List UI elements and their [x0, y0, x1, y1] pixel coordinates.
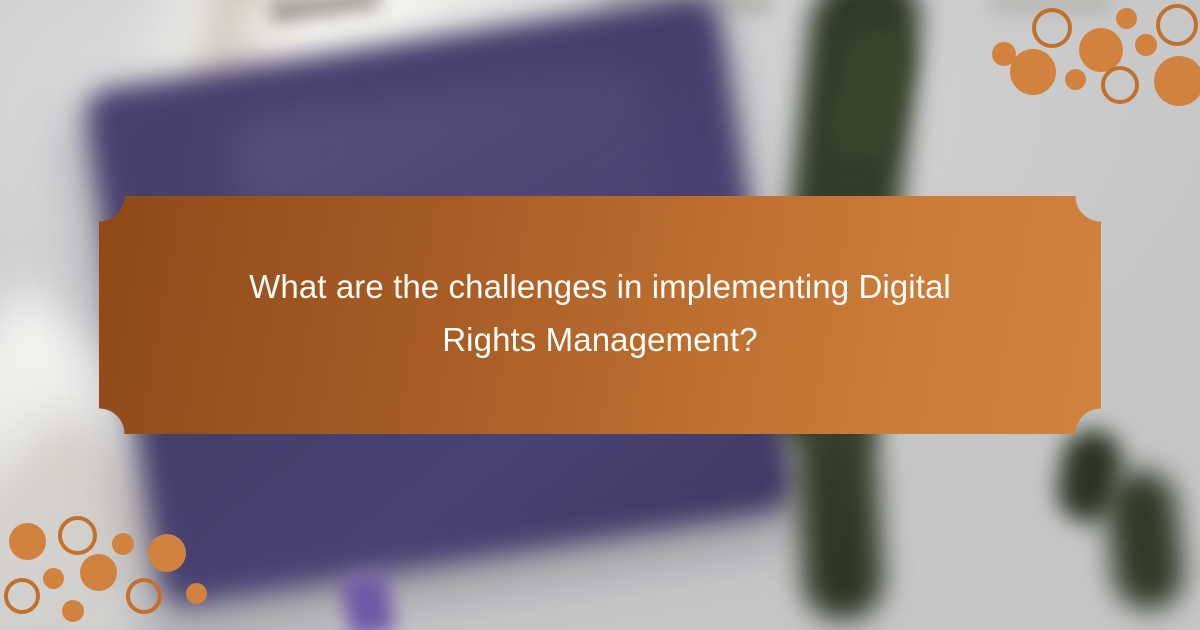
banner-title: What are the challenges in implementing …: [240, 260, 960, 371]
plant-stem: [795, 418, 885, 622]
background-speck: [990, 0, 1110, 10]
share-card: What are the challenges in implementing …: [0, 0, 1200, 630]
question-banner: What are the challenges in implementing …: [99, 196, 1101, 434]
